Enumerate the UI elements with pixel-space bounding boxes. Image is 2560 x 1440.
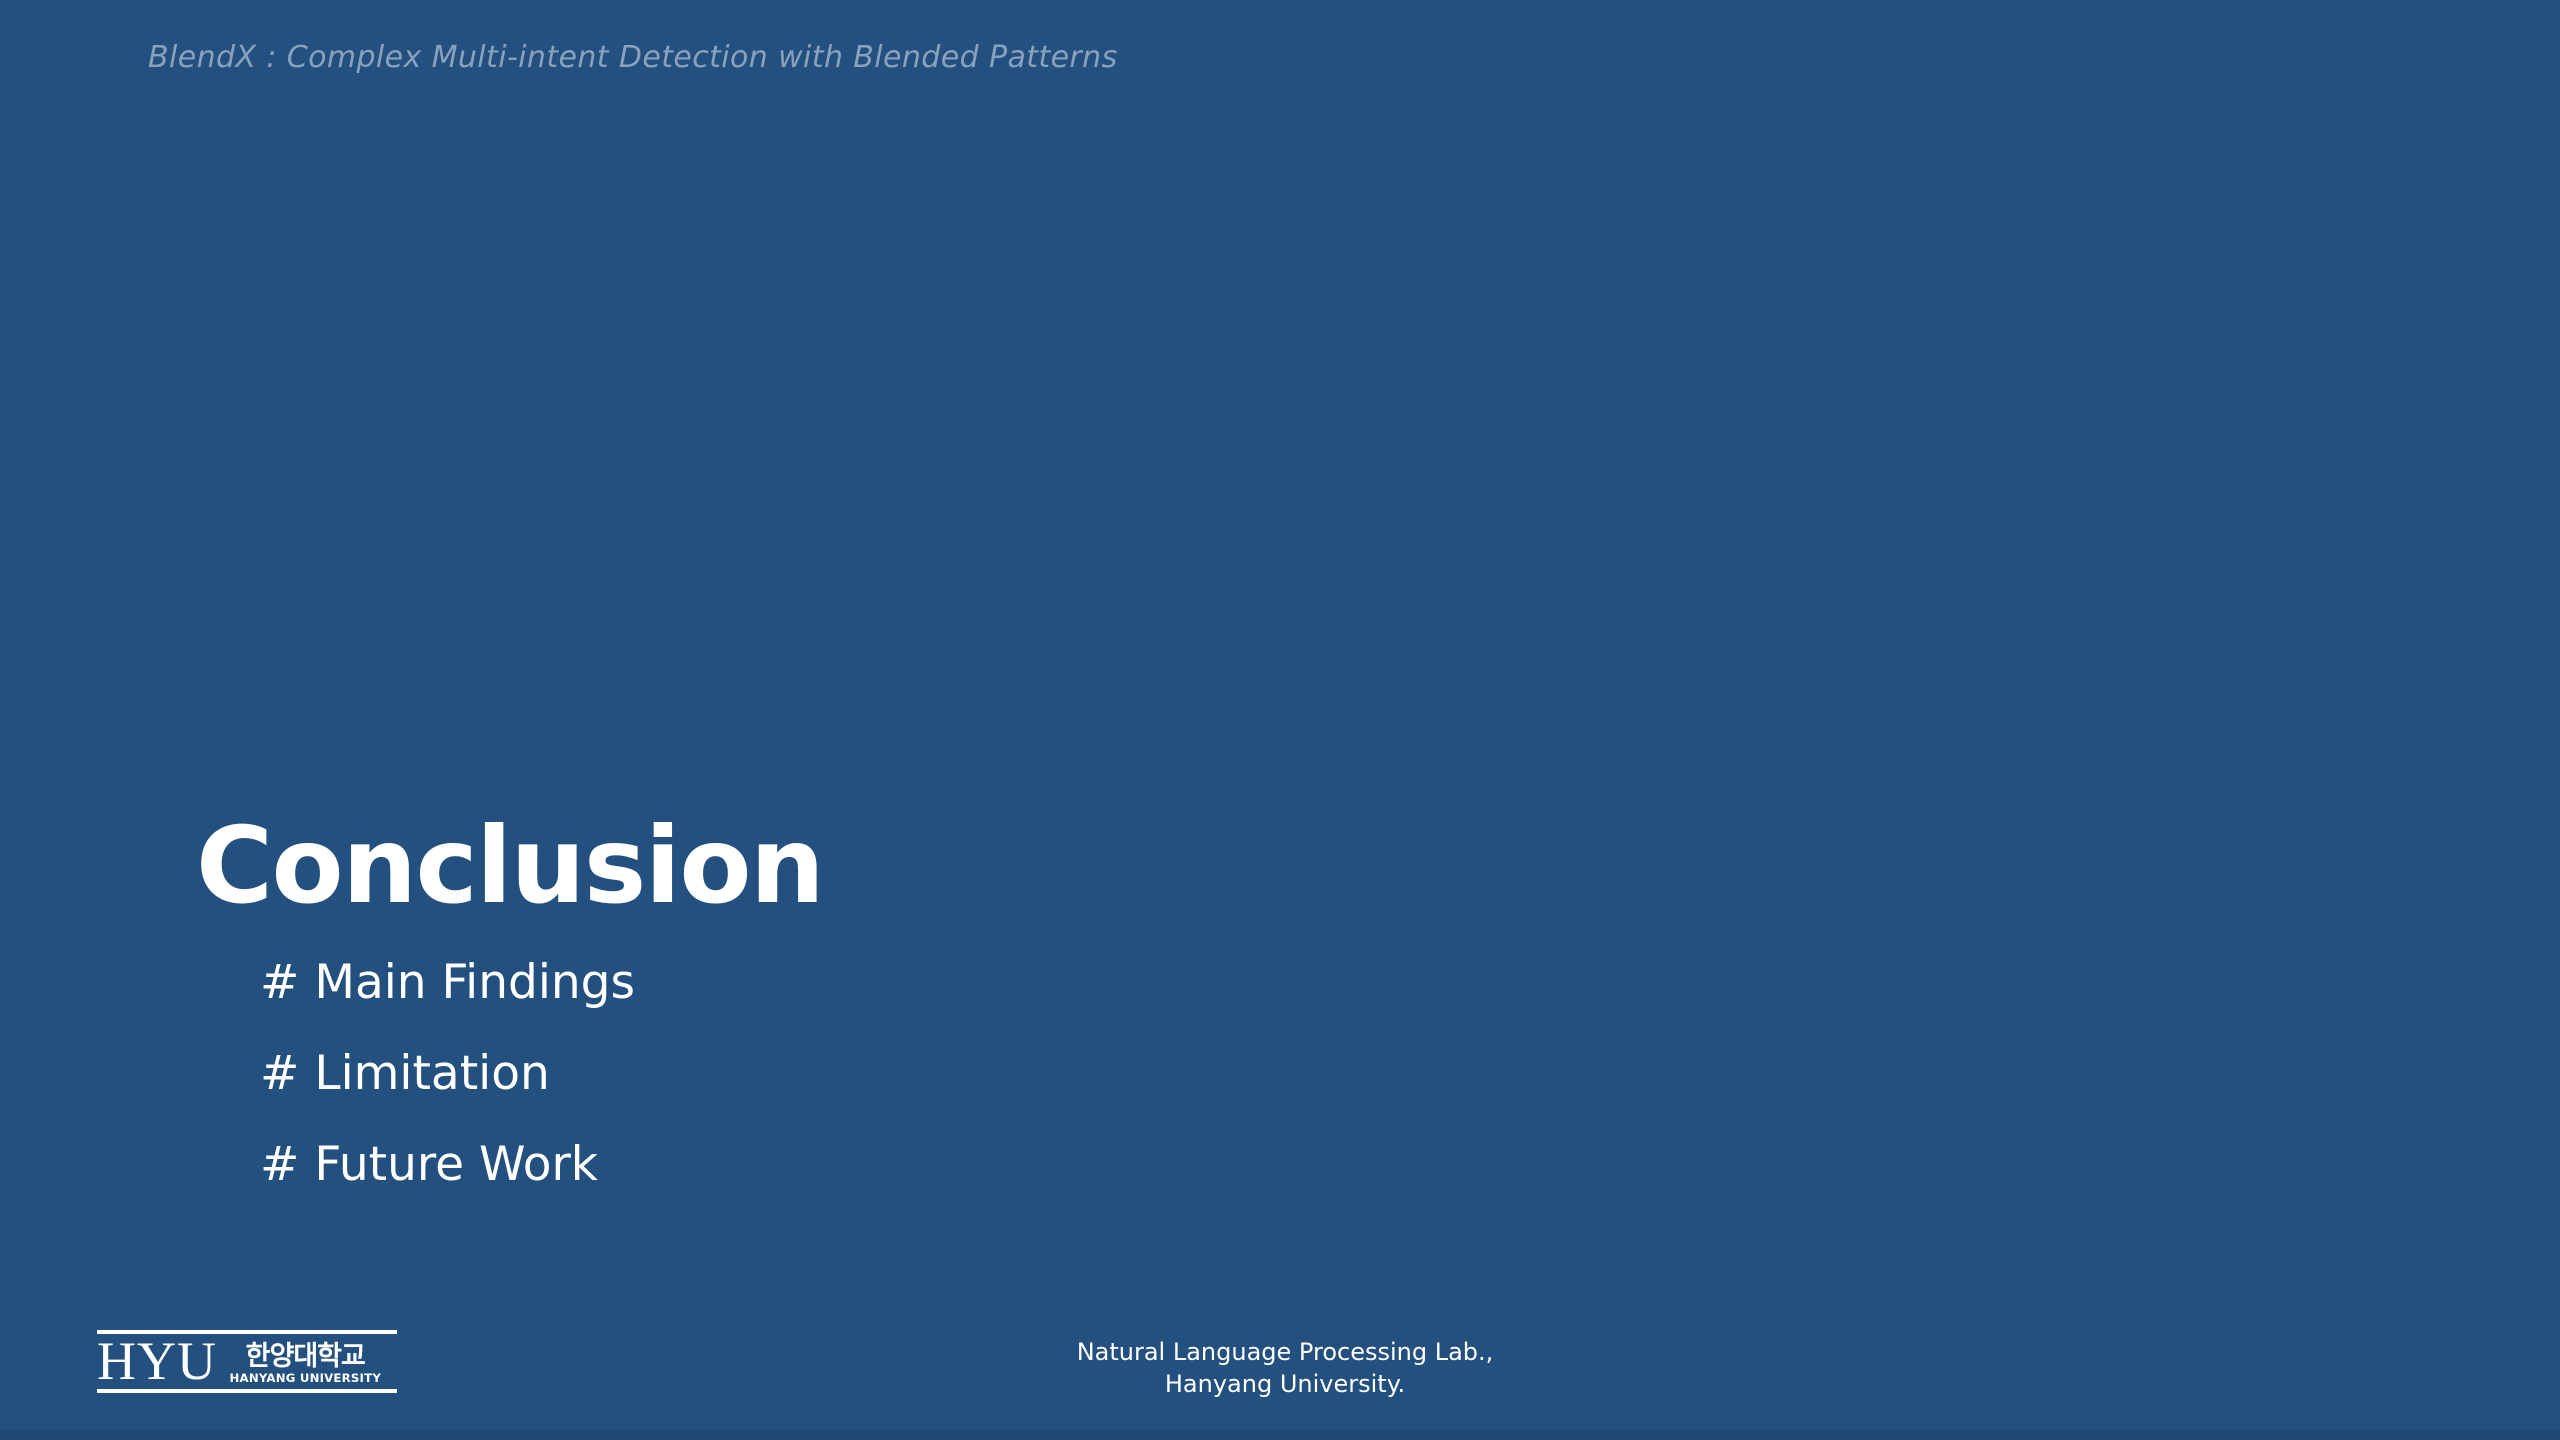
running-header-title: BlendX : Complex Multi-intent Detection … bbox=[148, 40, 1118, 75]
hash-marker-icon: # bbox=[260, 1050, 299, 1097]
hyu-logo: HYU 한양대학교 HANYANG UNIVERSITY bbox=[97, 1330, 397, 1393]
hash-marker-icon: # bbox=[260, 1141, 299, 1188]
agenda-list: # Main Findings # Limitation # Future Wo… bbox=[260, 959, 1796, 1188]
page-title: Conclusion bbox=[196, 810, 1796, 923]
logo-wordmark: HYU bbox=[97, 1336, 217, 1387]
presentation-slide: BlendX : Complex Multi-intent Detection … bbox=[0, 0, 2560, 1440]
slide-bottom-edge bbox=[0, 1430, 2560, 1440]
logo-name-korean: 한양대학교 bbox=[246, 1343, 365, 1370]
list-item-label: Main Findings bbox=[314, 959, 635, 1006]
logo-name-block: 한양대학교 HANYANG UNIVERSITY bbox=[231, 1343, 380, 1388]
footer-affiliation: Natural Language Processing Lab., Hanyan… bbox=[985, 1337, 1585, 1400]
footer-line-2: Hanyang University. bbox=[985, 1369, 1585, 1401]
logo-main-row: HYU 한양대학교 HANYANG UNIVERSITY bbox=[97, 1337, 397, 1387]
list-item: # Main Findings bbox=[260, 959, 1796, 1006]
slide-content: Conclusion # Main Findings # Limitation … bbox=[196, 810, 1796, 1188]
logo-name-english: HANYANG UNIVERSITY bbox=[230, 1373, 382, 1385]
list-item: # Limitation bbox=[260, 1050, 1796, 1097]
list-item: # Future Work bbox=[260, 1141, 1796, 1188]
footer-line-1: Natural Language Processing Lab., bbox=[985, 1337, 1585, 1369]
hash-marker-icon: # bbox=[260, 959, 299, 1006]
list-item-label: Future Work bbox=[314, 1141, 598, 1188]
list-item-label: Limitation bbox=[314, 1050, 549, 1097]
